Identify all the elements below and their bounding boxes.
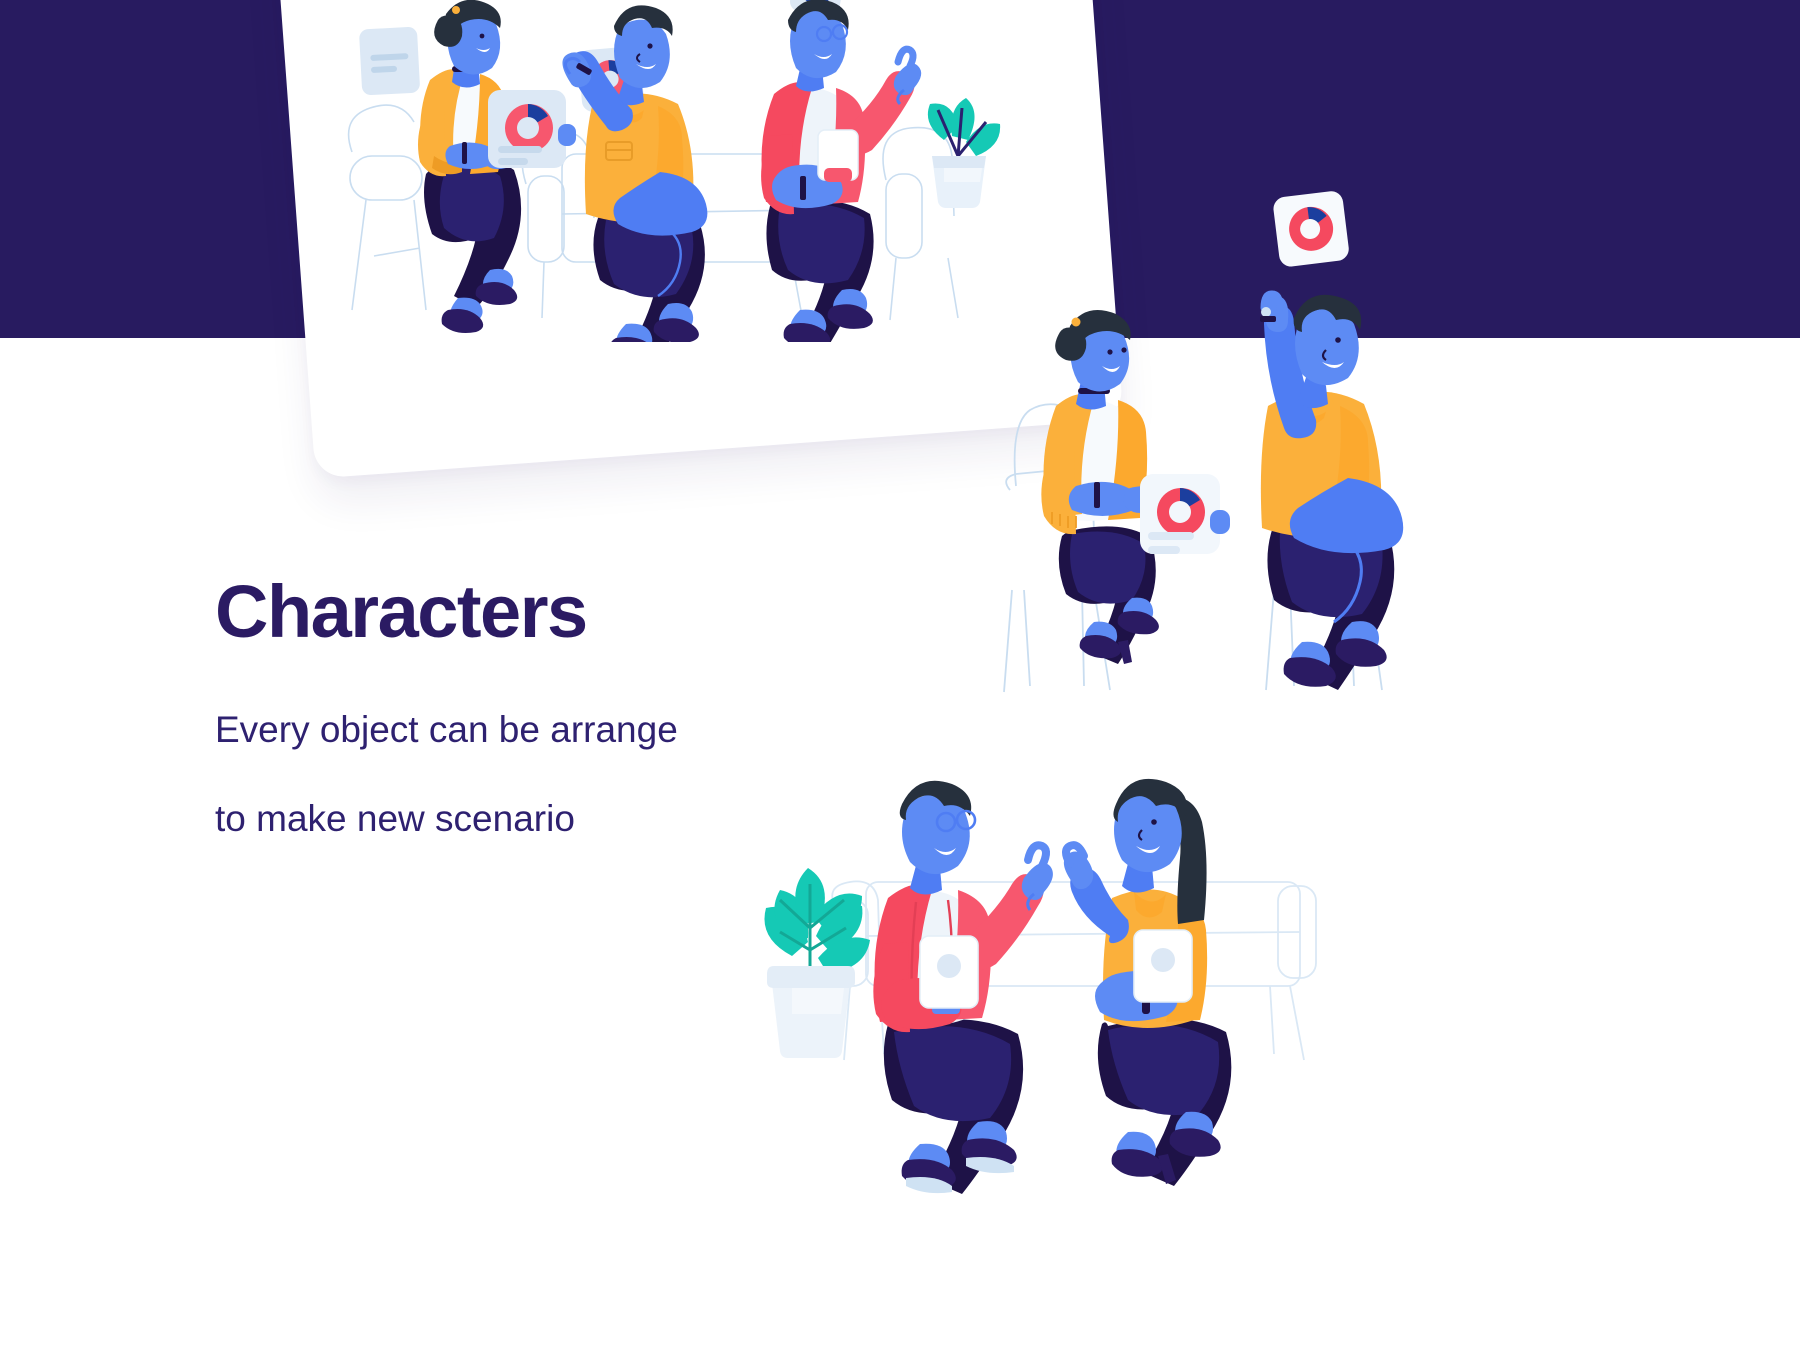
subtitle-line-2: to make new scenario: [215, 800, 855, 839]
copy-block: Characters Every object can be arrange t…: [215, 575, 855, 839]
donut-chart-card-1: [488, 90, 576, 168]
illustration-showcase-page: Characters Every object can be arrange t…: [0, 0, 1800, 1360]
character-man-yellow-polo-raised: [562, 5, 707, 363]
potted-plant-bottom: [764, 868, 870, 1058]
donut-chart-card-right: [1140, 474, 1230, 554]
character-man-chair-raised-card: [1260, 294, 1403, 690]
text-card: [359, 27, 420, 96]
subtitle-line-1: Every object can be arrange: [215, 711, 855, 750]
right-pair-scene: [990, 190, 1550, 700]
stool-outline: [349, 105, 426, 310]
character-yellow-longhair-bottom: [1064, 779, 1232, 1186]
donut-chart-card-raised: [1272, 190, 1350, 268]
page-title: Characters: [215, 575, 855, 649]
character-coral-glasses-bottom: [873, 781, 1053, 1194]
